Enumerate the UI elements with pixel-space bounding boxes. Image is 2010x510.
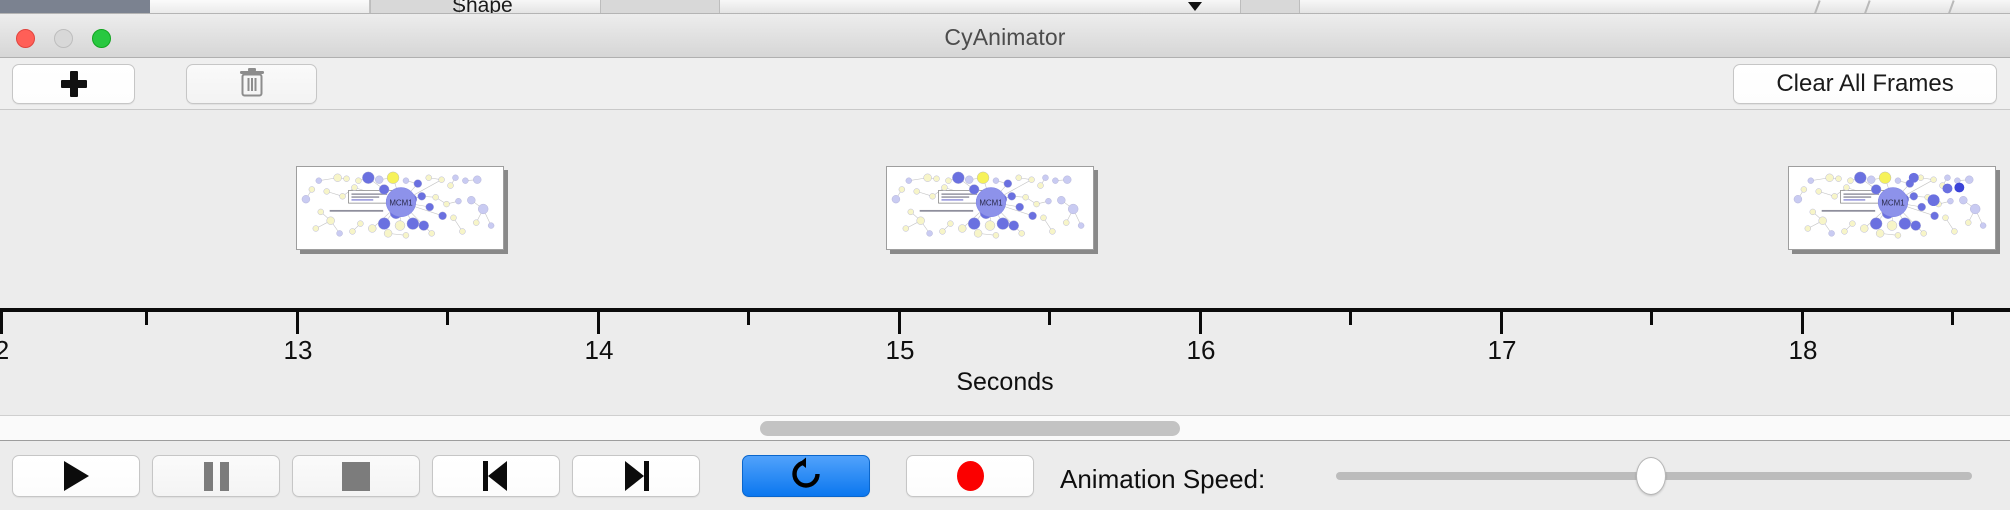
axis-tick (145, 312, 148, 325)
axis-tick (446, 312, 449, 325)
window-title-bar: CyAnimator (0, 14, 2010, 58)
svg-text:MCM1: MCM1 (979, 199, 1002, 208)
pause-icon (204, 462, 229, 491)
background-window-divider (1863, 0, 1870, 14)
loop-icon (789, 457, 823, 496)
window-title: CyAnimator (0, 24, 2010, 51)
timeline-panel[interactable]: MCM1MCM1MCM1 Seconds 2131415161718 (0, 110, 2010, 416)
axis-tick (1951, 312, 1954, 325)
axis-tick (1500, 312, 1503, 334)
svg-text:MCM1: MCM1 (389, 199, 412, 208)
background-window-tab (150, 0, 370, 14)
axis-tick (597, 312, 600, 334)
background-window-cell (370, 0, 460, 14)
skip-to-start-button[interactable] (432, 455, 560, 497)
animation-speed-slider[interactable] (1336, 455, 1972, 497)
background-window-cell (600, 0, 720, 14)
svg-text:MCM1: MCM1 (1881, 199, 1904, 208)
scrollbar-thumb[interactable] (760, 421, 1180, 436)
animation-speed-label: Animation Speed: (1060, 464, 1265, 495)
record-icon (957, 461, 984, 491)
background-window-selected-row (0, 0, 150, 14)
axis-tick (296, 312, 299, 334)
skip-to-end-button[interactable] (572, 455, 700, 497)
clear-all-frames-button[interactable]: Clear All Frames (1733, 64, 1997, 104)
add-frame-button[interactable] (12, 64, 135, 104)
axis-tick-label: 16 (1187, 335, 1216, 366)
axis-tick-label: 17 (1488, 335, 1517, 366)
slider-thumb[interactable] (1636, 457, 1666, 495)
skip-start-icon (481, 461, 511, 491)
stop-button[interactable] (292, 455, 420, 497)
timeline-frame-thumbnail[interactable]: MCM1 (296, 166, 504, 250)
axis-tick (1199, 312, 1202, 334)
timeline-axis-caption: Seconds (0, 368, 2010, 397)
axis-tick (0, 312, 3, 334)
delete-frame-button[interactable] (186, 64, 317, 104)
playback-toolbar: Animation Speed: (0, 442, 2010, 510)
play-icon (64, 461, 89, 491)
timeline-frame-thumbnail[interactable]: MCM1 (1788, 166, 1996, 250)
stop-icon (342, 462, 370, 491)
axis-tick (747, 312, 750, 325)
axis-tick (1801, 312, 1804, 334)
plus-icon (61, 71, 87, 97)
background-window-cell (1240, 0, 1300, 14)
record-button[interactable] (906, 455, 1034, 497)
timeline-horizontal-scrollbar[interactable] (0, 416, 2010, 441)
axis-tick-label: 2 (0, 335, 9, 366)
skip-end-icon (621, 461, 651, 491)
axis-tick-label: 13 (284, 335, 313, 366)
axis-tick (898, 312, 901, 334)
toolbar: Clear All Frames (0, 58, 2010, 110)
axis-tick (1349, 312, 1352, 325)
background-window-strip: Shape (0, 0, 2010, 14)
background-window-divider (1813, 0, 1820, 14)
axis-tick-label: 14 (585, 335, 614, 366)
timeline-axis-line (0, 308, 2010, 312)
background-window-label: Shape (452, 0, 513, 14)
axis-tick (1048, 312, 1051, 325)
pause-button[interactable] (152, 455, 280, 497)
axis-tick-label: 18 (1789, 335, 1818, 366)
background-window-divider (1947, 0, 1954, 14)
background-window-caret-icon (1188, 2, 1202, 11)
trash-icon (238, 66, 266, 103)
timeline-frame-thumbnail[interactable]: MCM1 (886, 166, 1094, 250)
play-button[interactable] (12, 455, 140, 497)
axis-tick-label: 15 (886, 335, 915, 366)
axis-tick (1650, 312, 1653, 325)
loop-button[interactable] (742, 455, 870, 497)
